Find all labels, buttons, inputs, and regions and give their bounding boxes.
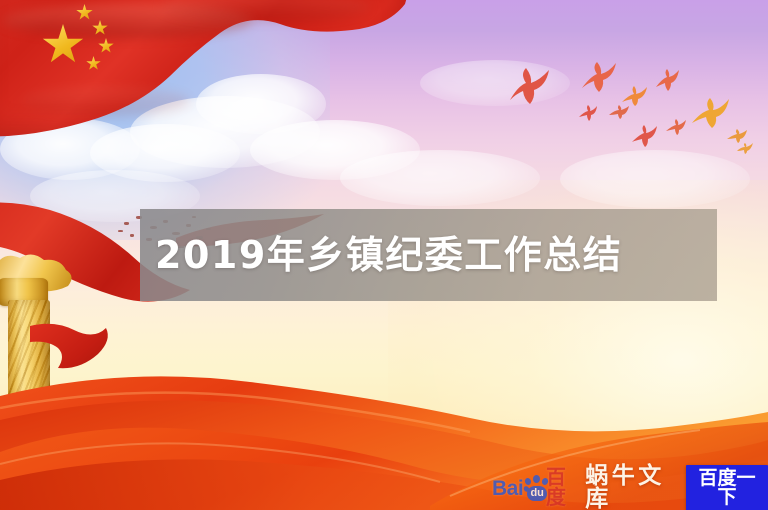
dove-icon <box>665 118 687 136</box>
chinese-national-flag <box>0 0 410 151</box>
dove-icon <box>736 142 754 155</box>
baidu-logo-latin: Bai <box>492 478 523 499</box>
paw-print-icon: du <box>524 475 544 501</box>
poster-canvas: 2019年乡镇纪委工作总结 Bai du 百度 蜗牛文库 百度一下 <box>0 0 768 510</box>
dove-icon <box>654 68 680 92</box>
baidu-logo-chinese: 百度 <box>546 468 576 508</box>
dove-icon <box>578 60 618 94</box>
dove-icon <box>578 104 598 122</box>
particle-speck <box>124 222 129 225</box>
site-name-label: 蜗牛文库 <box>585 465 677 510</box>
baidu-logo[interactable]: Bai du 百度 <box>492 475 576 501</box>
particle-speck <box>118 230 123 232</box>
baidu-search-button[interactable]: 百度一下 <box>686 465 768 510</box>
title-banner: 2019年乡镇纪委工作总结 <box>140 209 717 301</box>
page-title: 2019年乡镇纪委工作总结 <box>140 236 622 274</box>
watermark-bar: Bai du 百度 蜗牛文库 百度一下 <box>492 470 768 506</box>
particle-speck <box>130 234 134 237</box>
flag-fold-shadow <box>20 86 190 116</box>
dove-icon <box>630 124 658 148</box>
dove-icon <box>688 96 732 130</box>
baidu-logo-du: du <box>527 486 547 501</box>
dove-icon <box>608 104 630 120</box>
dove-icon <box>504 66 552 106</box>
